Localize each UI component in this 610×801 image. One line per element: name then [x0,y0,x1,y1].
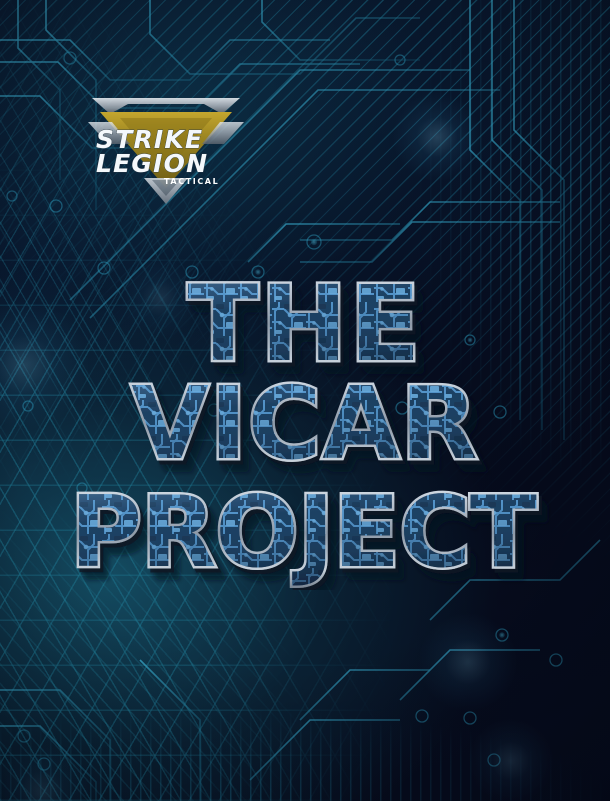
title-word-project-sheen: PROJECT [70,476,537,590]
book-cover: STRIKE LEGION TACTICAL [0,0,610,801]
logo-line-3: TACTICAL [164,177,219,186]
title-line-2-vicar: VICAR VICAR [0,366,610,478]
title-word-vicar-sheen: VICAR [131,366,478,478]
title-word-the-sheen: THE [187,268,422,380]
cover-title: THE THE VICAR VICAR PROJECT PROJECT [0,268,610,590]
strike-legion-logo-mark: STRIKE LEGION TACTICAL [86,92,246,207]
title-line-3-project: PROJECT PROJECT [0,466,610,590]
strike-legion-logo: STRIKE LEGION TACTICAL [86,92,246,207]
title-line-1-the: THE THE [0,268,610,380]
logo-line-2: LEGION [96,149,208,178]
